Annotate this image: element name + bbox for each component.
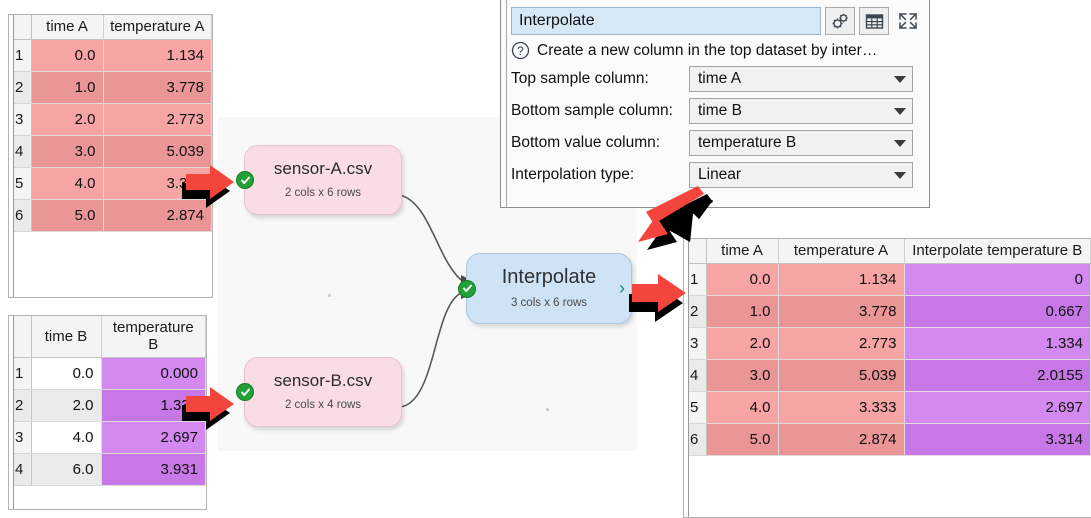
field-row-bottom-value-column: Bottom value column: temperature B [511,130,923,156]
cell-temperature-a[interactable]: 2.773 [778,328,904,360]
table-left-edge [9,15,14,297]
cell-temperature-a[interactable]: 5.039 [778,360,904,392]
table-row[interactable]: 1 0.0 1.134 0 [684,264,1091,296]
cell-time-a[interactable]: 4.0 [706,392,778,424]
table-row[interactable]: 3 4.0 2.697 [9,422,206,454]
cell-time-a[interactable]: 3.0 [31,136,103,168]
cell-time-a[interactable]: 5.0 [706,424,778,456]
table-row[interactable]: 4 6.0 3.931 [9,454,206,486]
cell-temperature-a[interactable]: 1.134 [103,40,212,72]
field-label: Bottom value column: [511,134,689,152]
top-sample-column-select[interactable]: time A [689,66,913,92]
svg-text:?: ? [517,44,524,58]
cell-interpolate-temperature-b[interactable]: 2.0155 [904,360,1091,392]
expand-arrows-icon[interactable] [893,7,923,35]
table-row[interactable]: 1 0.0 0.000 [9,358,206,390]
column-header-temperature-a[interactable]: temperature A [103,15,212,40]
chevron-down-icon [894,76,906,83]
cell-temperature-a[interactable]: 3.778 [103,72,212,104]
select-value: time B [698,102,894,120]
cell-time-b[interactable]: 4.0 [31,422,101,454]
cell-temperature-a[interactable]: 3.778 [778,296,904,328]
annotation-arrow-to-sensor-b [186,385,266,437]
table-row[interactable]: 5 4.0 3.333 2.697 [684,392,1091,424]
cell-time-a[interactable]: 5.0 [31,200,103,232]
chevron-down-icon [894,140,906,147]
cell-time-a[interactable]: 1.0 [31,72,103,104]
sensor-B-data-table[interactable]: time B temperature B 1 0.0 0.000 2 2.0 1… [8,315,207,510]
table-row[interactable]: 6 5.0 2.874 [9,200,212,232]
node-subtitle: 3 cols x 6 rows [511,298,587,310]
cell-interpolate-temperature-b[interactable]: 0.667 [904,296,1091,328]
table-left-edge [9,316,14,509]
node-output-chevron-icon[interactable]: › [619,279,625,297]
node-title: sensor-A.csv [274,160,372,177]
cell-temperature-b[interactable]: 3.931 [101,454,206,486]
cell-interpolate-temperature-b[interactable]: 1.334 [904,328,1091,360]
table-grid-icon[interactable] [859,7,889,35]
field-row-top-sample-column: Top sample column: time A [511,66,923,92]
dialog-title-row: Interpolate [511,7,923,35]
cell-temperature-a[interactable]: 3.333 [778,392,904,424]
cell-time-b[interactable]: 2.0 [31,390,101,422]
cell-interpolate-temperature-b[interactable]: 0 [904,264,1091,296]
node-title: sensor-B.csv [274,372,372,389]
cell-time-a[interactable]: 2.0 [31,104,103,136]
field-label: Bottom sample column: [511,102,689,120]
cell-time-a[interactable]: 0.0 [31,40,103,72]
chevron-down-icon [894,172,906,179]
interpolate-settings-dialog[interactable]: Interpolate [500,0,930,208]
column-header-temperature-b[interactable]: temperature B [101,316,206,358]
table-row[interactable]: 2 2.0 1.334 [9,390,206,422]
column-header-time-a[interactable]: time A [706,239,778,264]
table-header-row: time A temperature A [9,15,212,40]
cell-time-b[interactable]: 6.0 [31,454,101,486]
field-label: Top sample column: [511,70,689,88]
select-value: time A [698,70,894,88]
question-mark-icon[interactable]: ? [511,41,530,60]
cell-time-a[interactable]: 4.0 [31,168,103,200]
column-header-interpolate-temperature-b[interactable]: Interpolate temperature B [904,239,1091,264]
node-subtitle: 2 cols x 6 rows [285,188,361,200]
chevron-down-icon [894,108,906,115]
interpolate-result-table[interactable]: time A temperature A Interpolate tempera… [683,238,1091,518]
cell-time-b[interactable]: 0.0 [31,358,101,390]
table-grid: time A temperature A 1 0.0 1.134 2 1.0 3… [9,15,212,232]
cell-time-a[interactable]: 3.0 [706,360,778,392]
annotation-arrow-to-result-table [632,272,712,328]
bottom-sample-column-select[interactable]: time B [689,98,913,124]
select-value: temperature B [698,134,894,152]
dialog-left-edge [501,0,507,207]
table-row[interactable]: 3 2.0 2.773 [9,104,212,136]
table-row[interactable]: 1 0.0 1.134 [9,40,212,72]
table-row[interactable]: 2 1.0 3.778 [9,72,212,104]
cell-temperature-a[interactable]: 1.134 [778,264,904,296]
table-grid: time B temperature B 1 0.0 0.000 2 2.0 1… [9,316,206,486]
table-row[interactable]: 4 3.0 5.039 [9,136,212,168]
cell-time-a[interactable]: 0.0 [706,264,778,296]
field-row-interpolation-type: Interpolation type: Linear [511,162,923,188]
column-header-time-a[interactable]: time A [31,15,103,40]
cell-time-a[interactable]: 1.0 [706,296,778,328]
bottom-value-column-select[interactable]: temperature B [689,130,913,156]
settings-gears-icon[interactable] [825,7,855,35]
table-grid: time A temperature A Interpolate tempera… [684,239,1091,456]
node-subtitle: 2 cols x 4 rows [285,400,361,412]
cell-temperature-a[interactable]: 2.874 [778,424,904,456]
select-value: Linear [698,166,894,184]
dialog-help-row: ? Create a new column in the top dataset… [511,41,923,60]
column-header-time-b[interactable]: time B [31,316,101,358]
field-row-bottom-sample-column: Bottom sample column: time B [511,98,923,124]
table-header-row: time A temperature A Interpolate tempera… [684,239,1091,264]
cell-interpolate-temperature-b[interactable]: 3.314 [904,424,1091,456]
table-header-row: time B temperature B [9,316,206,358]
table-row[interactable]: 5 4.0 3.333 [9,168,212,200]
annotation-arrow-to-interpolate-node [586,190,716,280]
table-row[interactable]: 2 1.0 3.778 0.667 [684,296,1091,328]
dialog-help-text: Create a new column in the top dataset b… [537,42,877,60]
column-header-temperature-a[interactable]: temperature A [778,239,904,264]
cell-interpolate-temperature-b[interactable]: 2.697 [904,392,1091,424]
node-title: Interpolate [502,267,597,287]
status-ok-icon [458,280,476,298]
cell-time-a[interactable]: 2.0 [706,328,778,360]
dialog-title-input[interactable]: Interpolate [511,7,821,35]
interpolation-type-select[interactable]: Linear [689,162,913,188]
node-sensor-b-csv[interactable]: sensor-B.csv 2 cols x 4 rows [244,357,402,427]
table-row[interactable]: 3 2.0 2.773 1.334 [684,328,1091,360]
table-row[interactable]: 4 3.0 5.039 2.0155 [684,360,1091,392]
node-sensor-a-csv[interactable]: sensor-A.csv 2 cols x 6 rows [244,145,402,215]
field-label: Interpolation type: [511,166,689,184]
annotation-arrow-to-sensor-a [186,163,266,215]
cell-temperature-a[interactable]: 2.773 [103,104,212,136]
table-row[interactable]: 6 5.0 2.874 3.314 [684,424,1091,456]
sensor-A-data-table[interactable]: time A temperature A 1 0.0 1.134 2 1.0 3… [8,14,213,298]
